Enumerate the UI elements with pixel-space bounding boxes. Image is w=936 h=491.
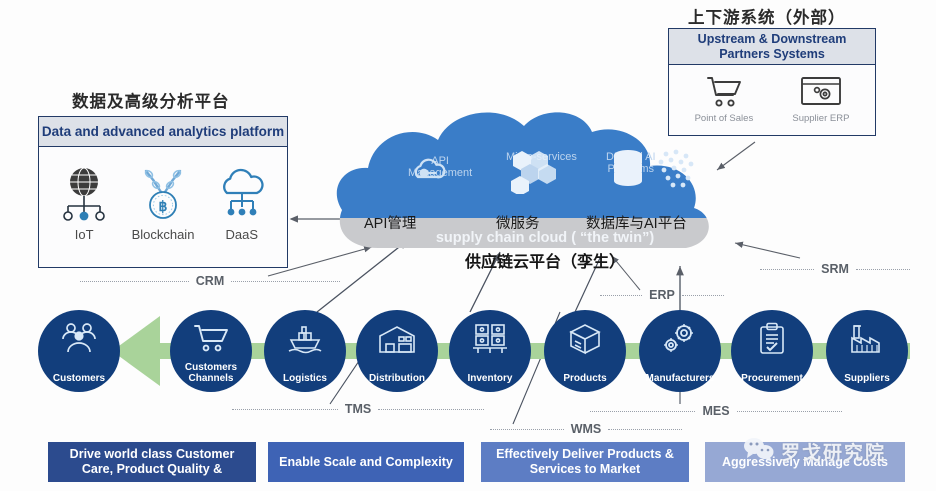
connector-crm: CRM — [80, 274, 340, 288]
cloud-item-db-ai[interactable]: DB and AI Platforms — [606, 148, 656, 176]
clipboard-check-icon — [731, 320, 813, 358]
cloud-caption-cn: 供应链云平台（孪生） — [330, 248, 760, 272]
node-customers[interactable]: Customers — [38, 310, 120, 392]
node-label: Suppliers — [844, 373, 890, 384]
connector-label: CRM — [189, 274, 231, 288]
dotted-line — [80, 281, 189, 282]
node-distribution[interactable]: Distribution — [356, 310, 438, 392]
node-label: Distribution — [369, 373, 425, 384]
cargo-ship-icon — [264, 320, 346, 358]
dotted-line — [608, 429, 682, 430]
analytics-item-label: DaaS — [226, 227, 259, 242]
cloud-data-icon — [215, 161, 269, 223]
analytics-item-daas[interactable]: DaaS — [215, 161, 269, 242]
outcome-banner-scale-complexity[interactable]: Enable Scale and Complexity — [268, 442, 464, 482]
banner-label: Enable Scale and Complexity — [279, 455, 453, 470]
connector-label: WMS — [564, 422, 609, 436]
partners-item-supplier-erp[interactable]: Supplier ERP — [792, 71, 849, 124]
partners-systems-header: Upstream & Downstream Partners Systems — [669, 29, 875, 65]
node-label: Logistics — [283, 373, 327, 384]
node-manufacturers[interactable]: Manufacturers — [639, 310, 721, 392]
analytics-platform-header: Data and advanced analytics platform — [39, 117, 287, 147]
connector-erp: ERP — [600, 288, 724, 302]
node-products[interactable]: Products — [544, 310, 626, 392]
watermark: 罗戈研究院 — [742, 436, 886, 467]
analytics-item-label: Blockchain — [132, 227, 195, 242]
node-label: Customers — [53, 373, 105, 384]
node-procurement[interactable]: Procurement — [731, 310, 813, 392]
node-inventory[interactable]: Inventory — [449, 310, 531, 392]
connector-label: ERP — [642, 288, 682, 302]
dotted-line — [737, 411, 842, 412]
node-label: Procurement — [741, 373, 803, 384]
connector-wms: WMS — [490, 422, 682, 436]
analytics-item-label: IoT — [75, 227, 94, 242]
watermark-text: 罗戈研究院 — [781, 438, 886, 465]
carton-box-icon — [544, 320, 626, 358]
node-label: Manufacturers — [646, 373, 715, 384]
diagram-canvas: 数据及高级分析平台 上下游系统（外部） Data and advanced an… — [0, 0, 936, 491]
people-group-icon — [38, 320, 120, 358]
analytics-platform-panel: Data and advanced analytics platform — [38, 116, 288, 268]
banner-label: Drive world class Customer Care, Product… — [56, 447, 248, 477]
dotted-line — [760, 269, 814, 270]
page-title-analytics-cn: 数据及高级分析平台 — [72, 88, 230, 112]
dotted-line — [232, 409, 338, 410]
outcome-banner-deliver-products[interactable]: Effectively Deliver Products & Services … — [481, 442, 689, 482]
dotted-line — [231, 281, 340, 282]
connector-srm: SRM — [760, 262, 910, 276]
cloud-item-microservices[interactable]: Micro-services — [506, 148, 577, 163]
svg-text:฿: ฿ — [159, 199, 168, 215]
pallet-boxes-icon — [449, 320, 531, 358]
shopping-cart-icon — [170, 320, 252, 358]
dotted-line — [378, 409, 484, 410]
wechat-icon — [742, 436, 776, 467]
dotted-line — [682, 295, 724, 296]
dotted-line — [490, 429, 564, 430]
partners-item-label: Supplier ERP — [792, 113, 849, 124]
node-label: Products — [563, 373, 606, 384]
analytics-platform-items: IoT — [39, 147, 287, 267]
connector-label: MES — [695, 404, 736, 418]
warehouse-icon — [356, 320, 438, 358]
connector-label: TMS — [338, 402, 378, 416]
cloud-item-api[interactable]: API Management — [408, 152, 472, 180]
dotted-line — [600, 295, 642, 296]
node-label: Customers Channels — [185, 362, 237, 384]
process-node-row: Customers Customers Channels Logisti — [0, 310, 936, 392]
connector-label: SRM — [814, 262, 856, 276]
outcome-banner-customer-care[interactable]: Drive world class Customer Care, Product… — [48, 442, 256, 482]
node-label: Inventory — [467, 373, 512, 384]
factory-icon — [826, 320, 908, 358]
banner-label: Effectively Deliver Products & Services … — [489, 447, 681, 477]
dotted-line — [590, 411, 695, 412]
node-logistics[interactable]: Logistics — [264, 310, 346, 392]
connector-mes: MES — [590, 404, 842, 418]
analytics-item-iot[interactable]: IoT — [57, 161, 111, 242]
node-customers-channels[interactable]: Customers Channels — [170, 310, 252, 392]
page-title-partners-cn: 上下游系统（外部） — [688, 4, 846, 28]
analytics-item-blockchain[interactable]: ฿ Blockchain — [132, 161, 195, 242]
connector-tms: TMS — [232, 402, 484, 416]
shopping-cart-icon — [704, 71, 744, 111]
browser-gear-icon — [799, 71, 843, 111]
globe-network-icon — [57, 161, 111, 223]
cloud-caption-en: supply chain cloud ( “the twin”) — [330, 230, 760, 246]
dotted-line — [856, 269, 910, 270]
blockchain-bitcoin-icon: ฿ — [136, 161, 190, 223]
node-suppliers[interactable]: Suppliers — [826, 310, 908, 392]
gears-icon — [639, 320, 721, 358]
